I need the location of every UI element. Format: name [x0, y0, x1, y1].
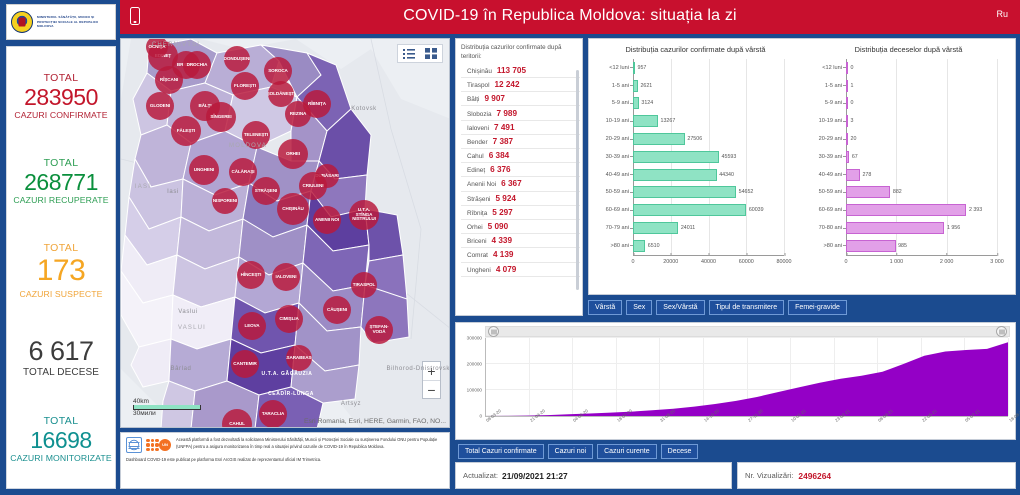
chart-x-tick-label: 1 000	[890, 256, 904, 265]
chart-bar-value-label: 985	[898, 243, 907, 249]
chart-tab-sex[interactable]: Sex	[626, 300, 652, 315]
map-geo-label: Artsyz	[341, 401, 361, 407]
territory-row[interactable]: Anenii Noi6 367	[461, 177, 580, 191]
chart-bar-row[interactable]: 30-39 ani45593	[633, 148, 784, 166]
grid-icon[interactable]	[425, 48, 437, 59]
timeline-plot-area: 0100000200000300000	[485, 338, 1008, 416]
chart-bar-row[interactable]: 20-29 ani20	[846, 130, 997, 148]
map-marker[interactable]: ȘOLDĂNEȘTI	[268, 81, 294, 107]
chart-bar[interactable]	[633, 186, 736, 198]
timeline-slider-handle-left[interactable]	[488, 326, 499, 337]
cumulative-cases-timeline[interactable]: 0100000200000300000 08-03-2021-04-2004-0…	[455, 322, 1016, 440]
map-marker[interactable]: LEOVA	[238, 312, 266, 340]
chart-category-label: 40-49 ani	[819, 172, 842, 178]
chart-bar-value-label: 45593	[722, 154, 737, 160]
chart-bar-row[interactable]: 50-59 ani882	[846, 184, 997, 202]
updated-label: Actualizat:	[463, 471, 498, 480]
map-marker[interactable]: CHIȘINĂU	[277, 193, 309, 225]
deaths-chart-plot: <12 luni01-5 ani15-9 ani010-19 ani320-29…	[846, 59, 997, 255]
timeline-y-tick-label: 300000	[467, 336, 482, 341]
map-geo-label: CHERNIVTSI	[152, 42, 200, 48]
map-geo-label: Kotovsk	[351, 106, 377, 112]
map-marker[interactable]: DONDUȘENI	[224, 46, 250, 72]
territory-list[interactable]: Chișinău113 705Tiraspol12 242Bălți9 907S…	[461, 64, 580, 314]
map-tools[interactable]	[397, 44, 443, 63]
ministry-logo: MINISTERUL SĂNĂTĂȚII, MUNCII ȘI PROTECȚI…	[6, 4, 116, 40]
territory-value: 5 297	[492, 208, 513, 217]
territory-row[interactable]: Ialoveni7 491	[461, 121, 580, 135]
chart-category-label: 70-79 ani	[606, 225, 629, 231]
timeline-y-tick-label: 200000	[467, 362, 482, 367]
map-district-label: U.T.A. GĂGĂUZIA	[262, 371, 313, 377]
map-zoom-out-button[interactable]: −	[423, 381, 440, 400]
chart-bar[interactable]	[633, 133, 685, 145]
chart-bar-row[interactable]: 10-19 ani13267	[633, 112, 784, 130]
chart-category-label: 1-5 ani	[612, 83, 629, 89]
map-marker[interactable]: CĂLĂRAȘI	[229, 158, 257, 186]
map-geo-label: VASLUI	[178, 325, 206, 331]
stat-suspect-top-label: TOTAL	[9, 242, 113, 254]
timeline-xaxis: 08-03-2021-04-2004-06-2018-07-2031-08-20…	[485, 416, 1008, 434]
stat-confirmed-bottom-label: CAZURI CONFIRMATE	[9, 110, 113, 120]
chart-axis-tick	[630, 67, 633, 68]
map-district-label: CEADÎR-LUNGA	[268, 391, 314, 397]
territory-row[interactable]: Comrat4 139	[461, 248, 580, 262]
chart-tab-v-rst-[interactable]: Vârstă	[588, 300, 622, 315]
territory-name: Strășeni	[467, 196, 490, 203]
chart-category-label: 5-9 ani	[825, 100, 842, 106]
territory-row[interactable]: Tiraspol12 242	[461, 78, 580, 92]
chart-bar-row[interactable]: 60-69 ani60039	[633, 201, 784, 219]
territory-name: Ialoveni	[467, 125, 489, 132]
chart-gridline	[784, 59, 785, 255]
map-scale-km-label: 40km	[133, 398, 201, 405]
chart-bar[interactable]	[846, 204, 966, 216]
map-marker[interactable]: TARACLIA	[259, 400, 287, 428]
territory-name: Comrat	[467, 252, 488, 259]
map-marker[interactable]: UNGHENI	[189, 155, 219, 185]
territory-row[interactable]: Chișinău113 705	[461, 64, 580, 78]
stat-suspect: TOTAL 173 CAZURI SUSPECTE	[9, 242, 113, 299]
chart-category-label: 10-19 ani	[819, 118, 842, 124]
stat-confirmed: TOTAL 283950 CAZURI CONFIRMATE	[9, 72, 113, 120]
chart-category-label: 60-69 ani	[606, 207, 629, 213]
map-geo-label: Bârlad	[171, 366, 192, 372]
map-marker[interactable]: SÎNGEREI	[206, 102, 236, 132]
map-marker[interactable]: DROCHIA	[183, 51, 211, 79]
territory-row[interactable]: Slobozia7 989	[461, 106, 580, 120]
stat-recovered: TOTAL 268771 CAZURI RECUPERATE	[9, 157, 113, 205]
chart-bar-value-label: 882	[893, 189, 902, 195]
stat-suspect-bottom-label: CAZURI SUSPECTE	[9, 289, 113, 299]
stat-deaths: 6 617 TOTAL DECESE	[9, 336, 113, 378]
territory-value: 6 376	[490, 165, 511, 174]
chart-bar[interactable]	[846, 169, 860, 181]
moldova-choropleth-map[interactable]: + − 40km 30мили Esri Romania, Esri, HERE…	[120, 38, 450, 428]
territory-name: Tiraspol	[467, 82, 490, 89]
page-title: COVID-19 în Republica Moldova: situația …	[120, 7, 1020, 25]
chart-category-label: >80 ani	[823, 243, 842, 249]
chart-category-label: 20-29 ani	[606, 136, 629, 142]
stat-monitored-value: 16698	[9, 427, 113, 453]
chart-tab-femei-gravide[interactable]: Femei-gravide	[788, 300, 847, 315]
timeline-tab-total-cazuri-confirmate[interactable]: Total Cazuri confirmate	[458, 444, 544, 459]
territory-row[interactable]: Orhei5 090	[461, 220, 580, 234]
map-geo-label: Vaslui	[178, 309, 198, 315]
chart-category-label: 50-59 ani	[606, 189, 629, 195]
deaths-chart-title: Distribuția deceselor după vârstă	[806, 45, 1011, 54]
chart-x-tick-label: 0	[632, 256, 635, 265]
map-scale-mi-label: 30мили	[133, 410, 201, 417]
chart-axis-tick	[843, 103, 846, 104]
map-marker[interactable]: CĂUȘENI	[323, 296, 351, 324]
chart-bar[interactable]	[633, 151, 719, 163]
chart-axis-tick	[843, 139, 846, 140]
chart-bar-row[interactable]: 60-69 ani2 393	[846, 201, 997, 219]
chart-category-label: <12 luni	[609, 65, 629, 71]
territory-row[interactable]: Cahul6 384	[461, 149, 580, 163]
chart-category-label: 60-69 ani	[819, 207, 842, 213]
chart-bar[interactable]	[633, 62, 635, 74]
chart-bar-row[interactable]: 40-49 ani44340	[633, 166, 784, 184]
chart-bar-value-label: 2621	[640, 83, 652, 89]
views-label: Nr. Vizualizări:	[745, 471, 793, 480]
chart-axis-tick	[843, 85, 846, 86]
chart-bar-row[interactable]: 70-80 ani1 956	[846, 219, 997, 237]
stat-confirmed-value: 283950	[9, 84, 113, 110]
unfpa-logo-icon: UN	[146, 437, 172, 453]
territory-value: 9 907	[484, 94, 505, 103]
territory-row[interactable]: Briceni4 339	[461, 234, 580, 248]
map-scale-bar: 40km 30мили	[133, 398, 201, 417]
chart-bar[interactable]	[846, 115, 848, 127]
territory-value: 4 079	[496, 265, 517, 274]
chart-bar-row[interactable]: >80 ani985	[846, 237, 997, 255]
territory-name: Ungheni	[467, 267, 491, 274]
view-counter-box: Nr. Vizualizări: 2496264	[737, 462, 1016, 489]
timeline-y-tick-label: 0	[479, 414, 482, 419]
confirmed-chart-plot: <12 luni9571-5 ani26215-9 ani312410-19 a…	[633, 59, 784, 255]
chart-x-tick-label: 3 000	[990, 256, 1004, 265]
confirmed-chart-title: Distribuția cazurilor confirmate după vâ…	[593, 45, 798, 54]
territory-name: Cahul	[467, 153, 484, 160]
chart-bar-row[interactable]: 1-5 ani1	[846, 77, 997, 95]
territory-value: 7 989	[497, 109, 518, 118]
map-marker[interactable]: GLODENI	[146, 92, 174, 120]
chart-category-label: 20-29 ani	[819, 136, 842, 142]
chart-x-tick-label: 20000	[663, 256, 678, 265]
chart-bar-value-label: 3124	[641, 100, 653, 106]
chart-bar[interactable]	[846, 80, 848, 92]
chart-bar-value-label: 27506	[687, 136, 702, 142]
chart-axis-tick	[843, 121, 846, 122]
chart-bar-value-label: 24011	[681, 225, 695, 231]
deaths-chart-xaxis: 01 0002 0003 000	[846, 255, 997, 267]
chart-bar[interactable]	[846, 133, 848, 145]
chart-category-label: 50-59 ani	[819, 189, 842, 195]
territory-value: 113 705	[497, 66, 526, 75]
map-attribution: Esri Romania, Esri, HERE, Garmin, FAO, N…	[304, 418, 446, 425]
map-marker[interactable]: BASARABEASCA	[286, 345, 312, 371]
map-marker[interactable]: ORHEI	[278, 139, 308, 169]
confirmed-chart-xaxis: 020000400006000080000	[633, 255, 784, 267]
stat-deaths-value: 6 617	[9, 336, 113, 367]
chart-x-tick-label: 2 000	[940, 256, 954, 265]
chart-axis-tick	[630, 103, 633, 104]
territory-name: Slobozia	[467, 111, 492, 118]
map-marker[interactable]: RÎȘCANI	[155, 66, 183, 94]
chart-bar[interactable]	[633, 115, 658, 127]
chart-category-label: >80 ani	[610, 243, 629, 249]
map-marker[interactable]: FĂLEȘTI	[171, 116, 201, 146]
dashboard-root: MINISTERUL SĂNĂTĂȚII, MUNCII ȘI PROTECȚI…	[0, 0, 1020, 495]
territory-row[interactable]: Bălți9 907	[461, 92, 580, 106]
timeline-tab-cazuri-curente[interactable]: Cazuri curente	[597, 444, 657, 459]
map-geo-label: IASI	[135, 184, 151, 190]
stat-recovered-value: 268771	[9, 169, 113, 195]
chart-category-label: 30-39 ani	[819, 154, 842, 160]
map-marker[interactable]: IALOVENI	[272, 263, 300, 291]
chart-bar-value-label: 20	[851, 136, 857, 142]
chart-bar-row[interactable]: 30-39 ani67	[846, 148, 997, 166]
chart-axis-tick	[843, 192, 846, 193]
last-updated-box: Actualizat: 21/09/2021 21:27	[455, 462, 732, 489]
chart-axis-tick	[843, 67, 846, 68]
language-switch-ru[interactable]: Ru	[996, 9, 1008, 19]
territory-name: Bălți	[467, 96, 479, 103]
chart-axis-tick	[630, 245, 633, 246]
chart-bar[interactable]	[633, 240, 645, 252]
chart-bar[interactable]	[846, 222, 944, 234]
chart-category-label: 30-39 ani	[606, 154, 629, 160]
chart-bar-value-label: 54652	[739, 189, 754, 195]
chart-bar-value-label: 6510	[648, 243, 660, 249]
stat-suspect-value: 173	[9, 254, 113, 289]
stat-recovered-top-label: TOTAL	[9, 157, 113, 169]
map-marker[interactable]: FLOREȘTI	[231, 72, 259, 100]
map-marker[interactable]: HÎNCEȘTI	[237, 261, 265, 289]
chart-axis-tick	[630, 156, 633, 157]
chart-tab-tipul-de-transmitere[interactable]: Tipul de transmitere	[709, 300, 785, 315]
chart-bar-value-label: 60039	[749, 207, 764, 213]
chart-axis-tick	[630, 228, 633, 229]
chart-bar-row[interactable]: <12 luni0	[846, 59, 997, 77]
territory-list-scrollbar[interactable]	[576, 70, 579, 290]
chart-bar-value-label: 1 956	[947, 225, 960, 231]
timeline-tab-bar[interactable]: Total Cazuri confirmateCazuri noiCazuri …	[458, 443, 698, 459]
map-marker[interactable]: CANTEMIR	[231, 350, 259, 378]
territory-value: 5 090	[488, 222, 509, 231]
chart-bar[interactable]	[846, 186, 890, 198]
map-marker[interactable]: U.T.A. STÎNGA NISTRULUI	[349, 200, 379, 230]
chart-bar-row[interactable]: 70-79 ani24011	[633, 219, 784, 237]
chart-bar-value-label: 1	[851, 83, 854, 89]
chart-axis-tick	[630, 210, 633, 211]
territory-row[interactable]: Rîbnița5 297	[461, 206, 580, 220]
map-marker[interactable]: CIMIȘLIA	[275, 305, 303, 333]
map-marker[interactable]: RÎBNIȚA	[303, 90, 331, 118]
map-geo-label: Iasi	[167, 189, 179, 195]
chart-bar-row[interactable]: 5-9 ani3124	[633, 95, 784, 113]
chart-bar[interactable]	[846, 151, 849, 163]
chart-category-label: 1-5 ani	[825, 83, 842, 89]
territory-value: 7 491	[494, 123, 515, 132]
territory-value: 6 384	[489, 151, 510, 160]
map-geo-label: Bilhorod-Dnistrovskyi	[387, 366, 450, 372]
territory-row[interactable]: Strășeni5 924	[461, 192, 580, 206]
territory-name: Briceni	[467, 238, 487, 245]
chart-category-label: 40-49 ani	[606, 172, 629, 178]
map-marker[interactable]: ȘTEFAN-VODĂ	[365, 316, 393, 344]
chart-axis-tick	[630, 121, 633, 122]
chart-bar-value-label: 957	[638, 65, 647, 71]
territory-row[interactable]: Edineț6 376	[461, 163, 580, 177]
chart-bar-row[interactable]: 1-5 ani2621	[633, 77, 784, 95]
territory-value: 6 367	[501, 179, 522, 188]
timeline-x-tick-label: 18-08-21	[1008, 408, 1020, 423]
chart-axis-tick	[843, 245, 846, 246]
chart-bar-value-label: 278	[862, 172, 871, 178]
timeline-area-series	[485, 338, 1008, 416]
chart-bar-row[interactable]: 40-49 ani278	[846, 166, 997, 184]
territory-value: 7 387	[493, 137, 514, 146]
un-logo-icon	[126, 437, 142, 453]
map-geo-label: MOLDOVA	[229, 143, 267, 149]
chart-bar-row[interactable]: 10-19 ani3	[846, 112, 997, 130]
chart-axis-tick	[843, 228, 846, 229]
confirmed-cases-by-age-chart: Distribuția cazurilor confirmate după vâ…	[589, 39, 802, 294]
chart-x-tick-label: 80000	[777, 256, 792, 265]
territory-name: Orhei	[467, 224, 483, 231]
chart-category-label: 10-19 ani	[606, 118, 629, 124]
deaths-by-age-chart: Distribuția deceselor după vârstă <12 lu…	[802, 39, 1015, 294]
chart-axis-tick	[630, 139, 633, 140]
moldova-coat-of-arms-icon	[11, 11, 33, 33]
chart-gridline	[997, 59, 998, 255]
top-header-bar: COVID-19 în Republica Moldova: situația …	[120, 0, 1020, 34]
map-marker[interactable]: NISPORENI	[212, 188, 238, 214]
chart-bar-row[interactable]: 5-9 ani0	[846, 95, 997, 113]
map-footer-credits: UN Această platformă a fost dezvoltată l…	[120, 432, 450, 489]
chart-bar-value-label: 3	[851, 118, 854, 124]
chart-bar-row[interactable]: 50-59 ani54652	[633, 184, 784, 202]
chart-bar-value-label: 44340	[719, 172, 734, 178]
summary-stats-panel: TOTAL 283950 CAZURI CONFIRMATE TOTAL 268…	[6, 46, 116, 489]
map-footer-line1: Această platformă a fost dezvoltată la s…	[176, 437, 444, 450]
chart-bar[interactable]	[633, 204, 746, 216]
chart-bar-value-label: 13267	[661, 118, 676, 124]
stat-monitored-bottom-label: CAZURI MONITORIZATE	[9, 453, 113, 463]
age-distribution-charts: Distribuția cazurilor confirmate după vâ…	[588, 38, 1016, 295]
chart-bar-value-label: 0	[851, 100, 854, 106]
timeline-range-slider[interactable]	[485, 326, 1010, 337]
chart-bar[interactable]	[633, 169, 717, 181]
territory-value: 4 339	[492, 236, 513, 245]
list-icon[interactable]	[403, 48, 415, 59]
chart-bar[interactable]	[846, 62, 848, 74]
chart-category-label: 70-80 ani	[819, 225, 842, 231]
chart-x-tick-label: 40000	[701, 256, 716, 265]
territory-panel-title: Distribuția cazurilor confirmate după te…	[461, 43, 580, 62]
views-value: 2496264	[798, 471, 831, 481]
timeline-y-tick-label: 100000	[467, 388, 482, 393]
stat-monitored: TOTAL 16698 CAZURI MONITORIZATE	[9, 415, 113, 463]
territory-name: Chișinău	[467, 68, 492, 75]
timeline-slider-handle-right[interactable]	[996, 326, 1007, 337]
map-marker[interactable]: TIRASPOL	[351, 272, 377, 298]
chart-bar-row[interactable]: <12 luni957	[633, 59, 784, 77]
chart-tab-bar[interactable]: VârstăSexSex/VârstăTipul de transmitereF…	[588, 299, 1016, 316]
chart-bar[interactable]	[846, 97, 848, 109]
chart-bar[interactable]	[633, 80, 638, 92]
stat-confirmed-top-label: TOTAL	[9, 72, 113, 84]
territory-value: 4 139	[493, 250, 514, 259]
chart-axis-tick	[630, 174, 633, 175]
chart-bar-row[interactable]: 20-29 ani27506	[633, 130, 784, 148]
territory-value: 12 242	[495, 80, 520, 89]
chart-axis-tick	[843, 174, 846, 175]
chart-bar-value-label: 2 393	[969, 207, 982, 213]
territory-name: Rîbnița	[467, 210, 487, 217]
chart-bar-value-label: 67	[852, 154, 858, 160]
chart-axis-tick	[843, 210, 846, 211]
chart-x-tick-label: 0	[845, 256, 848, 265]
territory-name: Edineț	[467, 167, 485, 174]
chart-bar-value-label: 0	[851, 65, 854, 71]
territory-name: Anenii Noi	[467, 181, 496, 188]
map-marker[interactable]: STRĂȘENI	[252, 177, 280, 205]
chart-axis-tick	[630, 85, 633, 86]
chart-bar[interactable]	[633, 222, 678, 234]
territory-value: 5 924	[495, 194, 516, 203]
timeline-tab-cazuri-noi[interactable]: Cazuri noi	[548, 444, 594, 459]
timeline-vgridline	[1008, 338, 1009, 416]
chart-bar[interactable]	[846, 240, 896, 252]
timeline-tab-decese[interactable]: Decese	[661, 444, 699, 459]
ministry-logo-text: MINISTERUL SĂNĂTĂȚII, MUNCII ȘI PROTECȚI…	[37, 15, 111, 28]
map-marker[interactable]: ANENII NOI	[313, 206, 341, 234]
chart-category-label: 5-9 ani	[612, 100, 629, 106]
map-footer-line2: Dashboard COVID-19 este publicat pe plat…	[126, 457, 444, 464]
chart-axis-tick	[843, 156, 846, 157]
updated-value: 21/09/2021 21:27	[502, 471, 568, 481]
stat-monitored-top-label: TOTAL	[9, 415, 113, 427]
chart-axis-tick	[630, 192, 633, 193]
territory-row[interactable]: Bender7 387	[461, 135, 580, 149]
territory-row[interactable]: Ungheni4 079	[461, 263, 580, 277]
territory-name: Bender	[467, 139, 488, 146]
territory-distribution-panel: Distribuția cazurilor confirmate după te…	[455, 38, 583, 316]
stat-deaths-bottom-label: TOTAL DECESE	[9, 367, 113, 378]
chart-tab-sex-v-rst-[interactable]: Sex/Vârstă	[656, 300, 704, 315]
chart-x-tick-label: 60000	[739, 256, 754, 265]
stat-recovered-bottom-label: CAZURI RECUPERATE	[9, 195, 113, 205]
chart-bar[interactable]	[633, 97, 639, 109]
chart-category-label: <12 luni	[822, 65, 842, 71]
